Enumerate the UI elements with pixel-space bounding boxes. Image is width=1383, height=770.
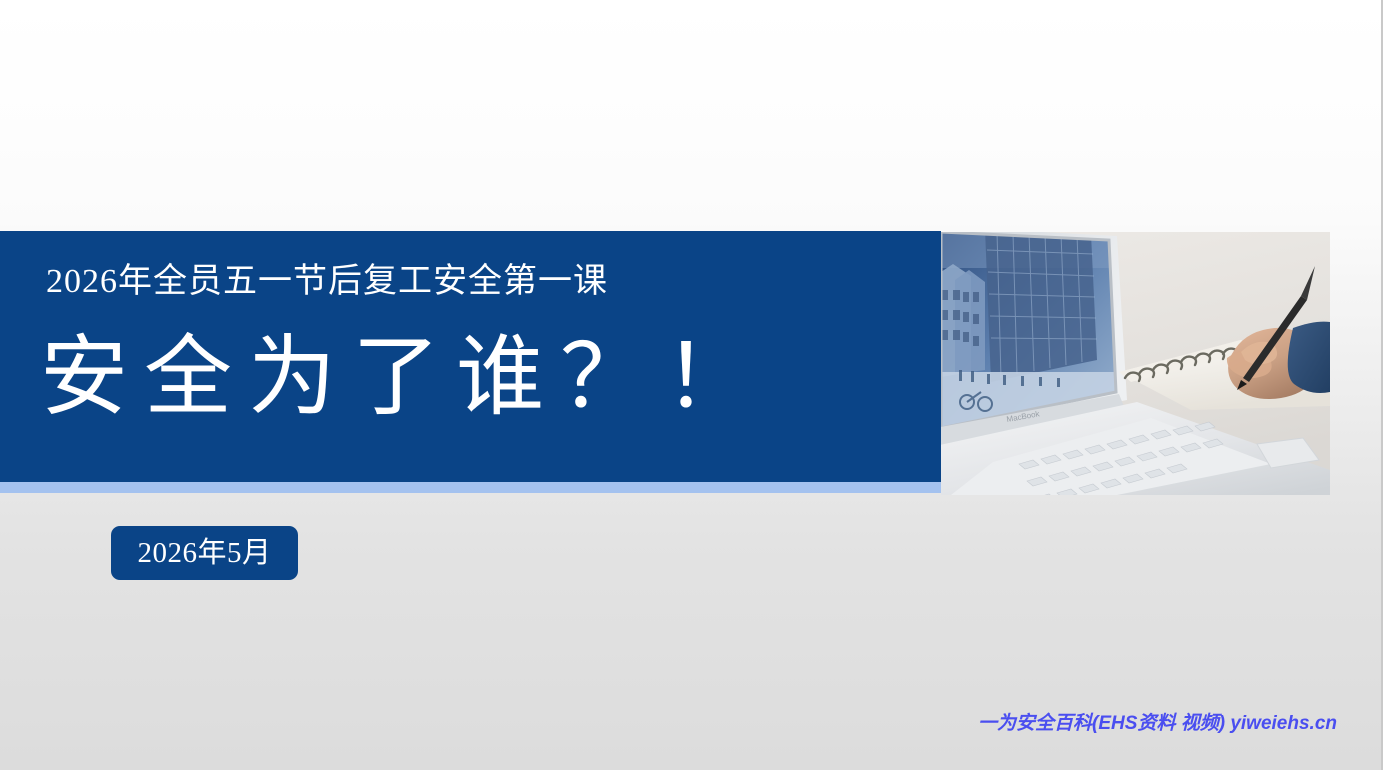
presentation-slide: 2026年全员五一节后复工安全第一课 安全为了谁？！ [0,0,1383,770]
watermark-text: 一为安全百科(EHS资料 视频) yiweiehs.cn [978,712,1337,736]
slide-main-title: 安全为了谁？！ [40,327,768,431]
date-badge: 2026年5月 [111,526,298,580]
laptop-notebook-illustration: MacBook [941,232,1330,495]
date-badge-label: 2026年5月 [137,539,271,568]
hero-photo: MacBook [941,232,1330,495]
banner-underline-accent [0,482,941,493]
slide-subtitle: 2026年全员五一节后复工安全第一课 [46,261,608,303]
